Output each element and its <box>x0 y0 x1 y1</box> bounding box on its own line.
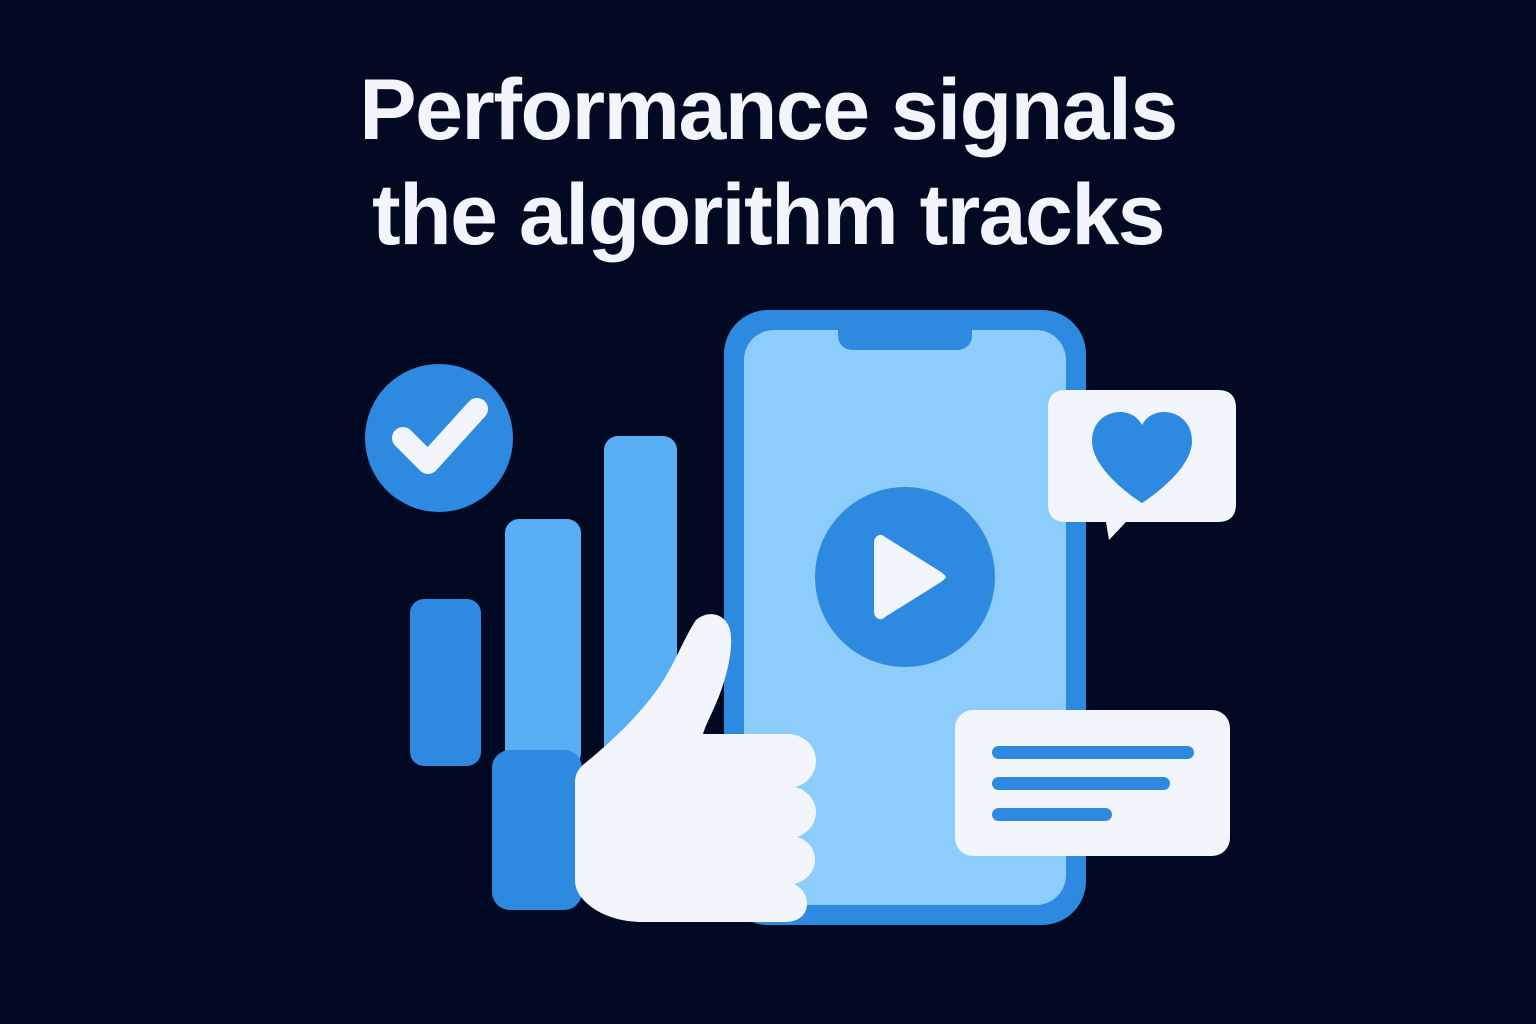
phone-notch <box>838 330 972 350</box>
play-icon <box>815 487 995 667</box>
comment-card <box>955 710 1230 856</box>
bar-foreground <box>492 750 582 910</box>
illustration-group <box>0 0 1536 1024</box>
comment-line-short <box>992 808 1112 821</box>
play-button[interactable] <box>815 487 995 667</box>
heart-icon <box>1048 390 1236 540</box>
verified-badge <box>365 364 513 512</box>
heart-reaction-bubble <box>1048 390 1236 540</box>
bar-medium <box>505 519 581 767</box>
thumbs-up-icon <box>575 612 840 922</box>
thumbs-up-hand <box>575 612 840 922</box>
check-icon <box>365 364 513 512</box>
comment-line-long <box>992 746 1194 759</box>
comment-line-medium <box>992 777 1170 790</box>
bar-short <box>410 599 481 766</box>
poster-canvas: Performance signals the algorithm tracks <box>0 0 1536 1024</box>
